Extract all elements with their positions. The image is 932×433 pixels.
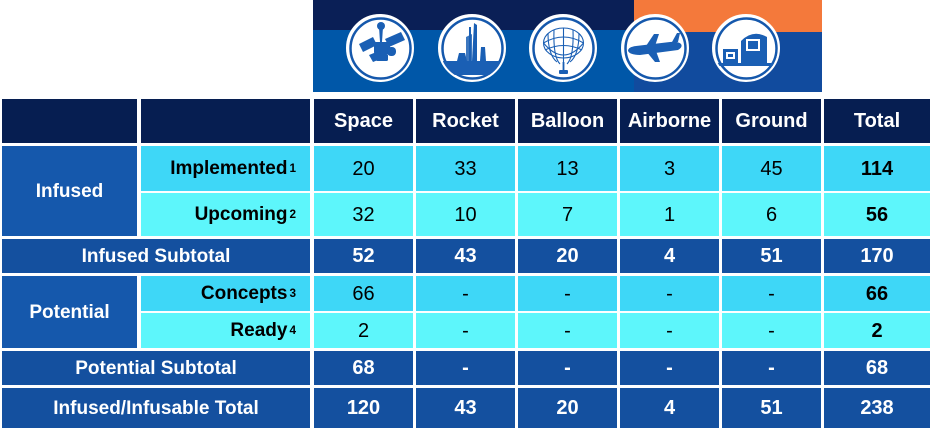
cell-upcoming-airborne: 1 xyxy=(620,193,719,236)
cell-grand-total-rocket: 43 xyxy=(416,388,515,428)
row-label-infused-subtotal: Infused Subtotal xyxy=(2,239,310,273)
row-label-upcoming: Upcoming2 xyxy=(141,193,310,236)
cell-upcoming-total: 56 xyxy=(824,193,930,236)
cell-concepts-total: 66 xyxy=(824,276,930,311)
cell-potential-subtotal-space: 68 xyxy=(314,351,413,385)
balloon-icon xyxy=(529,14,597,82)
cell-implemented-space: 20 xyxy=(314,146,413,191)
cell-grand-total-ground: 51 xyxy=(722,388,821,428)
cell-upcoming-rocket: 10 xyxy=(416,193,515,236)
slide-root: Space Rocket Balloon Airborne Ground Tot… xyxy=(0,0,932,433)
ground-station-icon xyxy=(712,14,780,82)
infusion-summary-table: Space Rocket Balloon Airborne Ground Tot… xyxy=(0,97,932,433)
cell-ready-total: 2 xyxy=(824,313,930,348)
header-col-ground: Ground xyxy=(722,99,821,143)
cell-infused-subtotal-space: 52 xyxy=(314,239,413,273)
cell-upcoming-balloon: 7 xyxy=(518,193,617,236)
header-col-airborne: Airborne xyxy=(620,99,719,143)
satellite-icon xyxy=(346,14,414,82)
cell-infused-subtotal-ground: 51 xyxy=(722,239,821,273)
cell-potential-subtotal-balloon: - xyxy=(518,351,617,385)
row-label-ready-text: Ready xyxy=(230,321,287,340)
cell-infused-subtotal-total: 170 xyxy=(824,239,930,273)
row-label-grand-total: Infused/Infusable Total xyxy=(2,388,310,428)
cell-infused-subtotal-rocket: 43 xyxy=(416,239,515,273)
header-col-balloon: Balloon xyxy=(518,99,617,143)
row-label-implemented: Implemented1 xyxy=(141,146,310,191)
row-label-ready: Ready4 xyxy=(141,313,310,348)
cell-concepts-rocket: - xyxy=(416,276,515,311)
cell-infused-subtotal-balloon: 20 xyxy=(518,239,617,273)
cell-grand-total-airborne: 4 xyxy=(620,388,719,428)
cell-concepts-space: 66 xyxy=(314,276,413,311)
cell-grand-total-total: 238 xyxy=(824,388,930,428)
cell-grand-total-space: 120 xyxy=(314,388,413,428)
row-label-implemented-text: Implemented xyxy=(170,159,287,178)
row-label-concepts: Concepts3 xyxy=(141,276,310,311)
mission-platform-banner xyxy=(313,0,822,94)
cell-ready-ground: - xyxy=(722,313,821,348)
header-col-total: Total xyxy=(824,99,930,143)
cell-ready-space: 2 xyxy=(314,313,413,348)
group-label-infused: Infused xyxy=(2,146,137,236)
cell-implemented-ground: 45 xyxy=(722,146,821,191)
aircraft-icon xyxy=(621,14,689,82)
rocket-launch-icon xyxy=(438,14,506,82)
cell-upcoming-ground: 6 xyxy=(722,193,821,236)
cell-potential-subtotal-ground: - xyxy=(722,351,821,385)
cell-concepts-ground: - xyxy=(722,276,821,311)
cell-potential-subtotal-total: 68 xyxy=(824,351,930,385)
cell-infused-subtotal-airborne: 4 xyxy=(620,239,719,273)
row-label-upcoming-text: Upcoming xyxy=(195,205,288,224)
cell-grand-total-balloon: 20 xyxy=(518,388,617,428)
cell-ready-balloon: - xyxy=(518,313,617,348)
cell-potential-subtotal-rocket: - xyxy=(416,351,515,385)
cell-potential-subtotal-airborne: - xyxy=(620,351,719,385)
cell-concepts-airborne: - xyxy=(620,276,719,311)
cell-upcoming-space: 32 xyxy=(314,193,413,236)
header-group-blank xyxy=(2,99,137,143)
cell-ready-airborne: - xyxy=(620,313,719,348)
row-label-concepts-text: Concepts xyxy=(201,284,288,303)
cell-implemented-total: 114 xyxy=(824,146,930,191)
header-col-rocket: Rocket xyxy=(416,99,515,143)
group-label-potential: Potential xyxy=(2,276,137,348)
cell-implemented-rocket: 33 xyxy=(416,146,515,191)
row-label-potential-subtotal: Potential Subtotal xyxy=(2,351,310,385)
cell-ready-rocket: - xyxy=(416,313,515,348)
cell-implemented-airborne: 3 xyxy=(620,146,719,191)
cell-concepts-balloon: - xyxy=(518,276,617,311)
header-col-space: Space xyxy=(314,99,413,143)
cell-implemented-balloon: 13 xyxy=(518,146,617,191)
header-label-blank xyxy=(141,99,310,143)
